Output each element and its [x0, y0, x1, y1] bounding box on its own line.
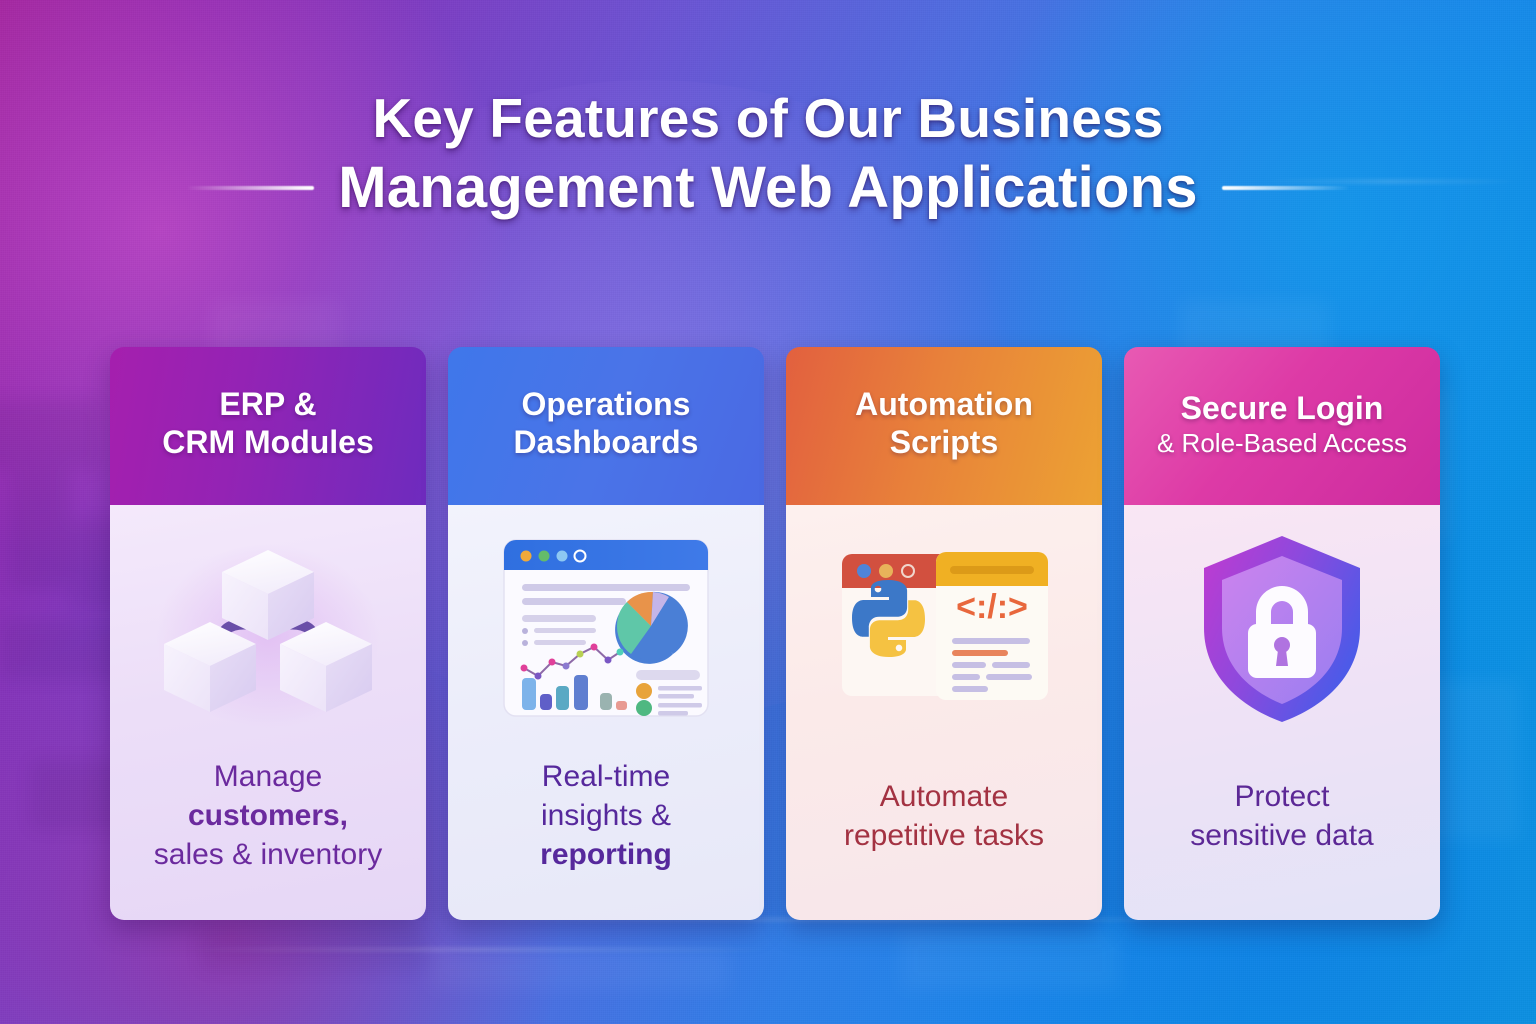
- card-caption-secure-login: Protect sensitive data: [1184, 737, 1379, 900]
- caption-line-1: Real-time: [540, 757, 672, 796]
- feature-card-automation-scripts[interactable]: Automation Scripts: [786, 347, 1102, 920]
- title-line-2: Management Web Applications: [338, 158, 1197, 217]
- feature-card-erp-crm-modules[interactable]: ERP & CRM Modules: [110, 347, 426, 920]
- card-title-line-1: Operations: [522, 386, 691, 424]
- card-title-line-2: Dashboards: [514, 424, 699, 462]
- card-caption-automation-scripts: Automate repetitive tasks: [838, 737, 1050, 900]
- caption-line-3: sales & inventory: [154, 835, 382, 874]
- card-body-automation-scripts: <:/:>: [786, 505, 1102, 920]
- caption-line-1: Automate: [844, 777, 1044, 816]
- page-title: Key Features of Our Business Management …: [0, 90, 1536, 217]
- caption-line-2: sensitive data: [1190, 816, 1373, 855]
- caption-line-2: repetitive tasks: [844, 816, 1044, 855]
- infographic-canvas: Key Features of Our Business Management …: [0, 0, 1536, 1024]
- card-caption-erp-crm-modules: Manage customers, sales & inventory: [148, 737, 388, 900]
- title-line-1: Key Features of Our Business: [0, 90, 1536, 146]
- icon-area: [120, 519, 416, 737]
- caption-line-1: Protect: [1190, 777, 1373, 816]
- card-title-line-1: Automation: [855, 386, 1033, 424]
- python-code-icon: <:/:>: [828, 538, 1060, 718]
- feature-card-secure-login[interactable]: Secure Login & Role-Based Access: [1124, 347, 1440, 920]
- card-body-operations-dashboards: Real-time insights & reporting: [448, 505, 764, 920]
- code-glyph-text: <:/:>: [956, 588, 1028, 626]
- caption-line-3: reporting: [540, 835, 672, 874]
- card-title-line-1: Secure Login: [1181, 390, 1384, 428]
- caption-line-2: customers,: [154, 796, 382, 835]
- icon-area: [458, 519, 754, 737]
- shield-lock-icon: [1182, 528, 1382, 728]
- card-title-line-2: Scripts: [890, 424, 998, 462]
- card-header-secure-login: Secure Login & Role-Based Access: [1124, 347, 1440, 505]
- title-rule-right-icon: [1222, 186, 1350, 190]
- card-header-erp-crm-modules: ERP & CRM Modules: [110, 347, 426, 505]
- card-caption-operations-dashboards: Real-time insights & reporting: [534, 737, 678, 900]
- connected-cubes-icon: [148, 528, 388, 728]
- icon-area: [1134, 519, 1430, 737]
- dashboard-window-icon: [496, 530, 716, 726]
- card-title-line-2: CRM Modules: [162, 424, 374, 462]
- icon-area: <:/:>: [796, 519, 1092, 737]
- card-header-operations-dashboards: Operations Dashboards: [448, 347, 764, 505]
- caption-line-2: insights &: [540, 796, 672, 835]
- feature-card-operations-dashboards[interactable]: Operations Dashboards: [448, 347, 764, 920]
- title-rule-left-icon: [186, 186, 314, 190]
- card-header-automation-scripts: Automation Scripts: [786, 347, 1102, 505]
- card-body-secure-login: Protect sensitive data: [1124, 505, 1440, 920]
- card-title-line-1: ERP &: [219, 386, 316, 424]
- card-body-erp-crm-modules: Manage customers, sales & inventory: [110, 505, 426, 920]
- title-row-2: Management Web Applications: [0, 158, 1536, 217]
- feature-card-list: ERP & CRM Modules: [110, 347, 1440, 920]
- caption-line-1: Manage: [154, 757, 382, 796]
- card-title-line-2: & Role-Based Access: [1157, 428, 1407, 459]
